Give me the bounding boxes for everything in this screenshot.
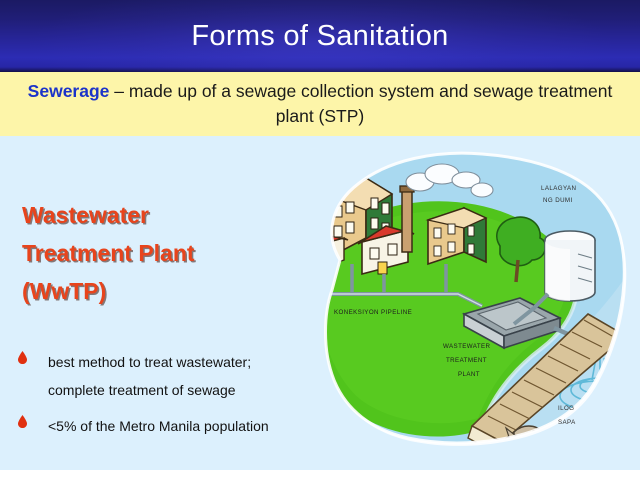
list-item: best method to treat wastewater; complet… [10, 348, 310, 404]
wwtp-heading-line-3: (WwTP) [22, 272, 292, 310]
wwtp-heading-line-1: Wastewater [22, 196, 292, 234]
label-river-line2: SAPA [558, 419, 576, 426]
subtitle-keyword: Sewerage [28, 81, 110, 101]
illustration-scene [296, 142, 636, 472]
subtitle-rest: – made up of a sewage collection system … [109, 81, 612, 126]
label-plant-line3: PLANT [458, 371, 480, 378]
water-drop-icon [18, 351, 27, 364]
label-tank-line1: LALAGYAN [541, 185, 576, 192]
wwtp-heading: Wastewater Treatment Plant (WwTP) [22, 196, 292, 310]
list-item-text: <5% of the Metro Manila population [48, 418, 269, 434]
storage-tank [545, 231, 595, 301]
label-river-line1: ILOG [558, 405, 574, 412]
label-plant-line2: TREATMENT [446, 357, 487, 364]
subtitle-text: Sewerage – made up of a sewage collectio… [10, 79, 630, 129]
slide: Forms of Sanitation Sewerage – made up o… [0, 0, 640, 479]
bullet-list: best method to treat wastewater; complet… [10, 348, 310, 448]
subtitle-band: Sewerage – made up of a sewage collectio… [0, 72, 640, 136]
label-pipeline: KONEKSIYON PIPELINE [334, 309, 412, 316]
water-drop-icon [18, 415, 27, 428]
label-tank-line2: NG DUMI [543, 197, 573, 204]
wwtp-heading-line-2: Treatment Plant [22, 234, 292, 272]
list-item: <5% of the Metro Manila population [10, 412, 310, 440]
page-title: Forms of Sanitation [0, 0, 640, 72]
wwtp-illustration: KONEKSIYON PIPELINE LALAGYAN NG DUMI WAS… [296, 142, 636, 472]
list-item-text: best method to treat wastewater; complet… [48, 354, 251, 398]
label-plant-line1: WASTEWATER [443, 343, 491, 350]
